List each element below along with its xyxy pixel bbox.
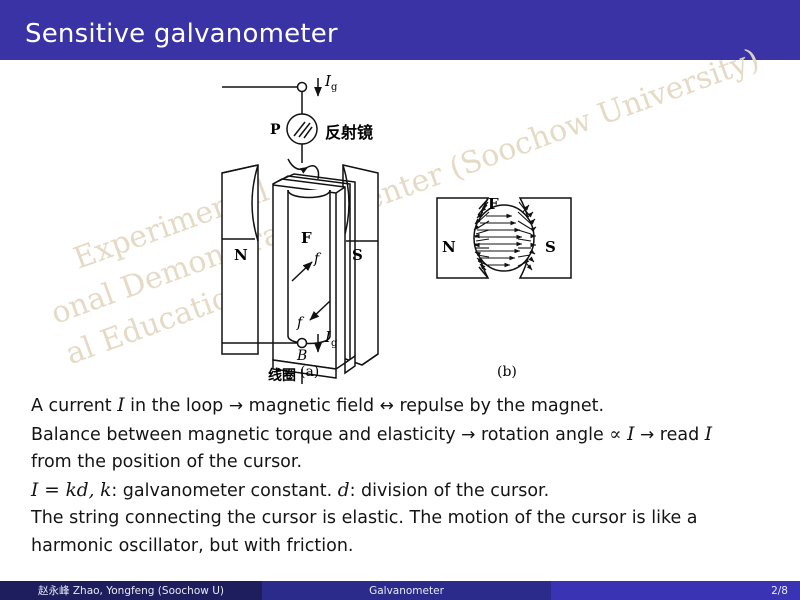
body-line-4: I = kd, k: galvanometer constant. d: div… bbox=[31, 477, 776, 506]
fig-b-label-s: S bbox=[545, 238, 556, 256]
fig-b-label-n: N bbox=[442, 238, 456, 256]
footer-author-segment: 赵永峰 Zhao, Yongfeng (Soochow U) bbox=[0, 581, 262, 600]
fig-b-label-f: F bbox=[488, 195, 499, 213]
slide-body: A current I in the loop → magnetic field… bbox=[31, 392, 776, 560]
fig-a-label-b: B bbox=[297, 348, 307, 364]
body-line-6: harmonic oscillator, but with friction. bbox=[31, 533, 776, 561]
footer-page-number: 2/8 bbox=[771, 585, 788, 597]
slide: Sensitive galvanometer Experimental onal… bbox=[0, 0, 800, 600]
figure-caption-a: (a) bbox=[300, 364, 319, 380]
body-line-5: The string connecting the cursor is elas… bbox=[31, 505, 776, 533]
body-line-1: A current I in the loop → magnetic field… bbox=[31, 392, 776, 421]
body-line-3: from the position of the cursor. bbox=[31, 449, 776, 477]
body-line-2: Balance between magnetic torque and elas… bbox=[31, 421, 776, 450]
fig-a-label-current-bottom: Ig bbox=[325, 328, 337, 349]
footer-title: Galvanometer bbox=[369, 585, 444, 597]
footer-title-segment: Galvanometer bbox=[262, 581, 551, 600]
slide-footer: 赵永峰 Zhao, Yongfeng (Soochow U) Galvanome… bbox=[0, 581, 800, 600]
footer-author: 赵永峰 Zhao, Yongfeng (Soochow U) bbox=[38, 583, 224, 598]
footer-page-segment: 2/8 bbox=[551, 581, 800, 600]
figure-caption-b: (b) bbox=[497, 364, 517, 380]
